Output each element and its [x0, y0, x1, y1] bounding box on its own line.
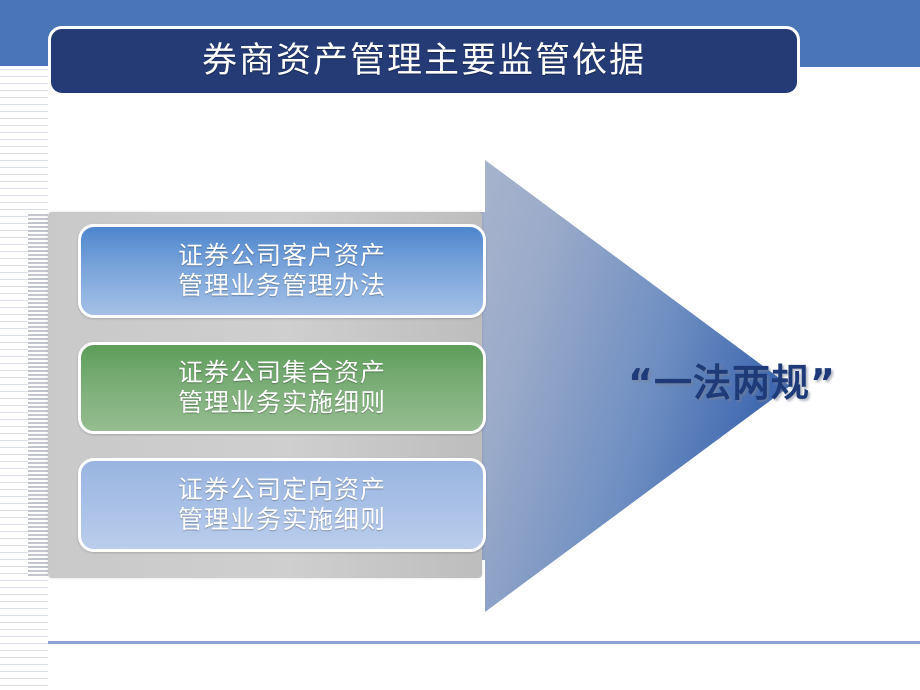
headline-text: “一法两规”: [628, 352, 898, 407]
bottom-divider: [48, 641, 920, 644]
regulation-box-2[interactable]: 证券公司集合资产 管理业务实施细则: [78, 342, 486, 434]
left-stripe-decoration: [0, 66, 48, 690]
page-title: 券商资产管理主要监管依据: [202, 44, 646, 79]
slide-canvas: 券商资产管理主要监管依据 证券公司客户资产 管理业务管理办法 证券公司集合资产 …: [0, 0, 920, 690]
regulation-box-1[interactable]: 证券公司客户资产 管理业务管理办法: [78, 224, 486, 318]
regulation-box-3-label: 证券公司定向资产 管理业务实施细则: [178, 475, 386, 536]
regulation-box-2-label: 证券公司集合资产 管理业务实施细则: [178, 358, 386, 419]
regulation-box-1-label: 证券公司客户资产 管理业务管理办法: [178, 241, 386, 302]
title-plate: 券商资产管理主要监管依据: [48, 26, 800, 96]
left-stripe-accent: [28, 212, 48, 578]
regulation-box-3[interactable]: 证券公司定向资产 管理业务实施细则: [78, 458, 486, 552]
